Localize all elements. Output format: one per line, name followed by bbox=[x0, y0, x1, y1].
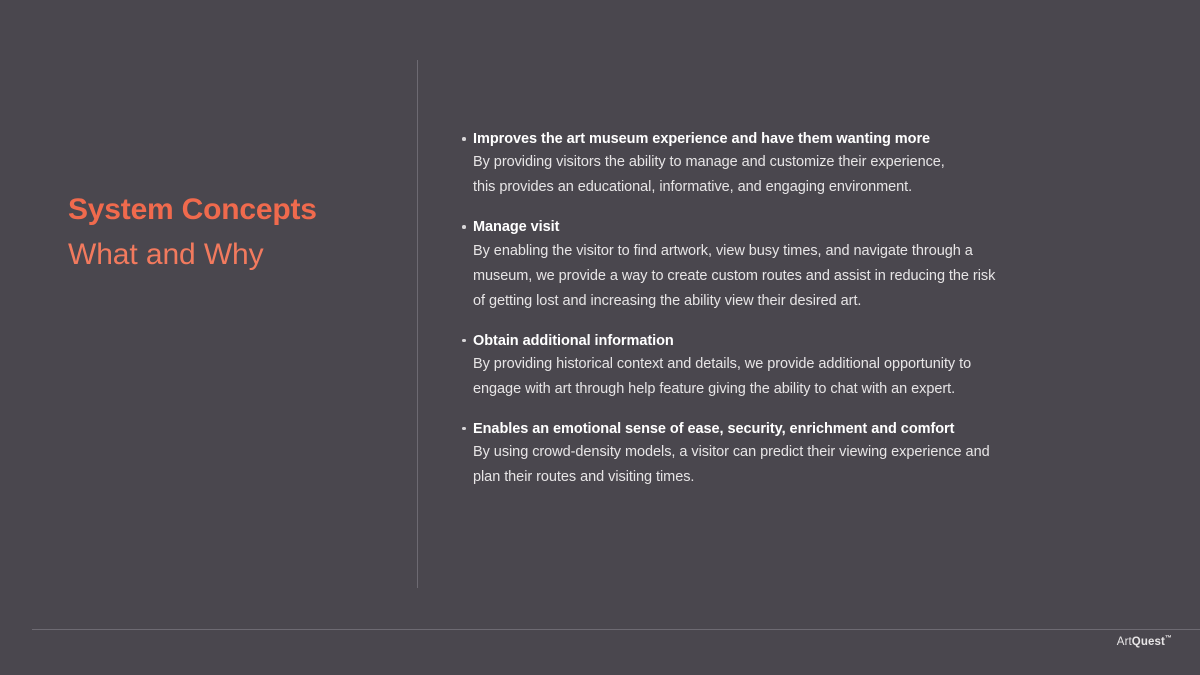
bullet-list: Improves the art museum experience and h… bbox=[459, 128, 1059, 490]
bullet-body-line: By using crowd-density models, a visitor… bbox=[473, 440, 1059, 465]
bullet-heading: Manage visit bbox=[459, 216, 1059, 238]
bullet-dot-icon bbox=[462, 225, 466, 229]
list-item: Enables an emotional sense of ease, secu… bbox=[459, 418, 1059, 490]
list-item: Obtain additional information By providi… bbox=[459, 330, 1059, 402]
bullet-body-line: museum, we provide a way to create custo… bbox=[473, 264, 1059, 289]
list-item: Improves the art museum experience and h… bbox=[459, 128, 1059, 200]
trademark-icon: ™ bbox=[1165, 635, 1172, 642]
vertical-divider bbox=[417, 60, 418, 588]
bullet-heading-text: Manage visit bbox=[473, 219, 559, 235]
bullet-dot-icon bbox=[462, 137, 466, 141]
list-item: Manage visit By enabling the visitor to … bbox=[459, 216, 1059, 313]
footer-logo-quest: Quest bbox=[1132, 636, 1165, 648]
bullet-dot-icon bbox=[462, 339, 466, 343]
bullet-heading-text: Obtain additional information bbox=[473, 333, 674, 349]
bullet-body: By using crowd-density models, a visitor… bbox=[459, 440, 1059, 490]
bullet-body-line: plan their routes and visiting times. bbox=[473, 465, 1059, 490]
title-block: System Concepts What and Why bbox=[68, 192, 398, 273]
footer-divider bbox=[32, 629, 1200, 630]
bullet-body-line: By providing visitors the ability to man… bbox=[473, 150, 1059, 175]
footer-logo-art: Art bbox=[1117, 636, 1132, 648]
bullet-dot-icon bbox=[462, 427, 466, 431]
bullet-heading: Enables an emotional sense of ease, secu… bbox=[459, 418, 1059, 440]
bullet-body-line: engage with art through help feature giv… bbox=[473, 377, 1059, 402]
bullet-body-line: By enabling the visitor to find artwork,… bbox=[473, 239, 1059, 264]
bullet-heading: Improves the art museum experience and h… bbox=[459, 128, 1059, 150]
bullet-body: By providing visitors the ability to man… bbox=[459, 150, 1059, 200]
bullet-body-line: By providing historical context and deta… bbox=[473, 352, 1059, 377]
bullet-body: By providing historical context and deta… bbox=[459, 352, 1059, 402]
bullet-body-line: of getting lost and increasing the abili… bbox=[473, 289, 1059, 314]
slide-root: System Concepts What and Why Improves th… bbox=[0, 0, 1200, 675]
page-subtitle: What and Why bbox=[68, 237, 398, 272]
bullet-body-line: this provides an educational, informativ… bbox=[473, 175, 1059, 200]
bullet-heading: Obtain additional information bbox=[459, 330, 1059, 352]
bullet-body: By enabling the visitor to find artwork,… bbox=[459, 239, 1059, 314]
footer-logo: ArtQuest™ bbox=[1117, 629, 1172, 648]
bullet-heading-text: Enables an emotional sense of ease, secu… bbox=[473, 421, 954, 437]
bullet-heading-text: Improves the art museum experience and h… bbox=[473, 131, 930, 147]
page-title: System Concepts bbox=[68, 192, 398, 227]
